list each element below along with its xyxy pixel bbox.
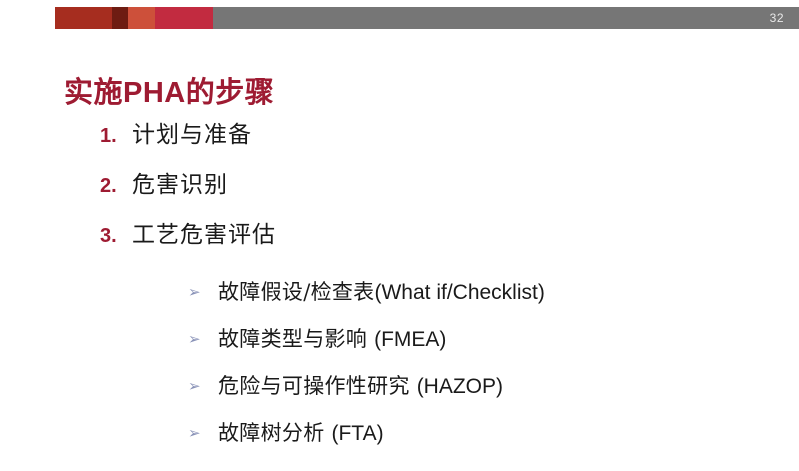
sub-bullet-list: ➢ 故障假设/检查表(What if/Checklist) ➢ 故障类型与影响 … bbox=[188, 282, 788, 470]
topbar-segment-dark-maroon bbox=[112, 7, 128, 29]
topbar-segment-gray: 32 bbox=[213, 7, 799, 29]
list-item-label: 计划与准备 bbox=[132, 124, 252, 147]
arrow-bullet-icon: ➢ bbox=[188, 379, 218, 394]
list-item-label-cjk: 危险与可操作性研究 bbox=[218, 374, 417, 398]
list-item: ➢ 故障假设/检查表(What if/Checklist) bbox=[188, 282, 788, 329]
slide-canvas: 32 实施PHA的步骤 1. 计划与准备 2. 危害识别 3. 工艺危害评估 ➢… bbox=[0, 0, 799, 471]
numbered-step-list: 1. 计划与准备 2. 危害识别 3. 工艺危害评估 bbox=[100, 124, 760, 274]
list-item: 1. 计划与准备 bbox=[100, 124, 760, 174]
page-title-suffix: 的步骤 bbox=[186, 75, 275, 109]
topbar-segment-crimson bbox=[155, 7, 213, 29]
list-item-marker: 3. bbox=[100, 226, 132, 246]
arrow-bullet-icon: ➢ bbox=[188, 285, 218, 300]
list-item-marker: 1. bbox=[100, 126, 132, 146]
list-item-label: 故障类型与影响 (FMEA) bbox=[218, 329, 446, 350]
list-item-label: 危害识别 bbox=[132, 174, 228, 197]
list-item: ➢ 危险与可操作性研究 (HAZOP) bbox=[188, 376, 788, 423]
list-item-label: 危险与可操作性研究 (HAZOP) bbox=[218, 376, 503, 397]
list-item-label-latin: (FMEA) bbox=[374, 328, 446, 351]
page-title-prefix: 实施 bbox=[64, 75, 123, 109]
list-item-label-cjk: 故障假设/检查表 bbox=[218, 280, 374, 304]
arrow-bullet-icon: ➢ bbox=[188, 332, 218, 347]
page-title-latin: PHA bbox=[123, 77, 186, 109]
list-item-label: 故障树分析 (FTA) bbox=[218, 423, 384, 444]
page-title: 实施PHA的步骤 bbox=[64, 75, 274, 111]
list-item-marker: 2. bbox=[100, 176, 132, 196]
page-number: 32 bbox=[770, 12, 784, 24]
topbar-segment-orange-red bbox=[128, 7, 155, 29]
list-item-label-cjk: 故障类型与影响 bbox=[218, 327, 374, 351]
list-item: ➢ 故障树分析 (FTA) bbox=[188, 423, 788, 470]
list-item: ➢ 故障类型与影响 (FMEA) bbox=[188, 329, 788, 376]
topbar-segment-brick-red bbox=[55, 7, 112, 29]
list-item-label-cjk: 故障树分析 bbox=[218, 421, 331, 445]
list-item-label: 工艺危害评估 bbox=[132, 224, 276, 247]
list-item-label: 故障假设/检查表(What if/Checklist) bbox=[218, 282, 545, 303]
list-item-label-latin: (HAZOP) bbox=[417, 375, 503, 398]
list-item-label-latin: (FTA) bbox=[331, 422, 383, 445]
list-item: 2. 危害识别 bbox=[100, 174, 760, 224]
arrow-bullet-icon: ➢ bbox=[188, 426, 218, 441]
top-decorative-bar: 32 bbox=[55, 7, 799, 29]
list-item: 3. 工艺危害评估 bbox=[100, 224, 760, 274]
list-item-label-latin: (What if/Checklist) bbox=[374, 281, 544, 304]
